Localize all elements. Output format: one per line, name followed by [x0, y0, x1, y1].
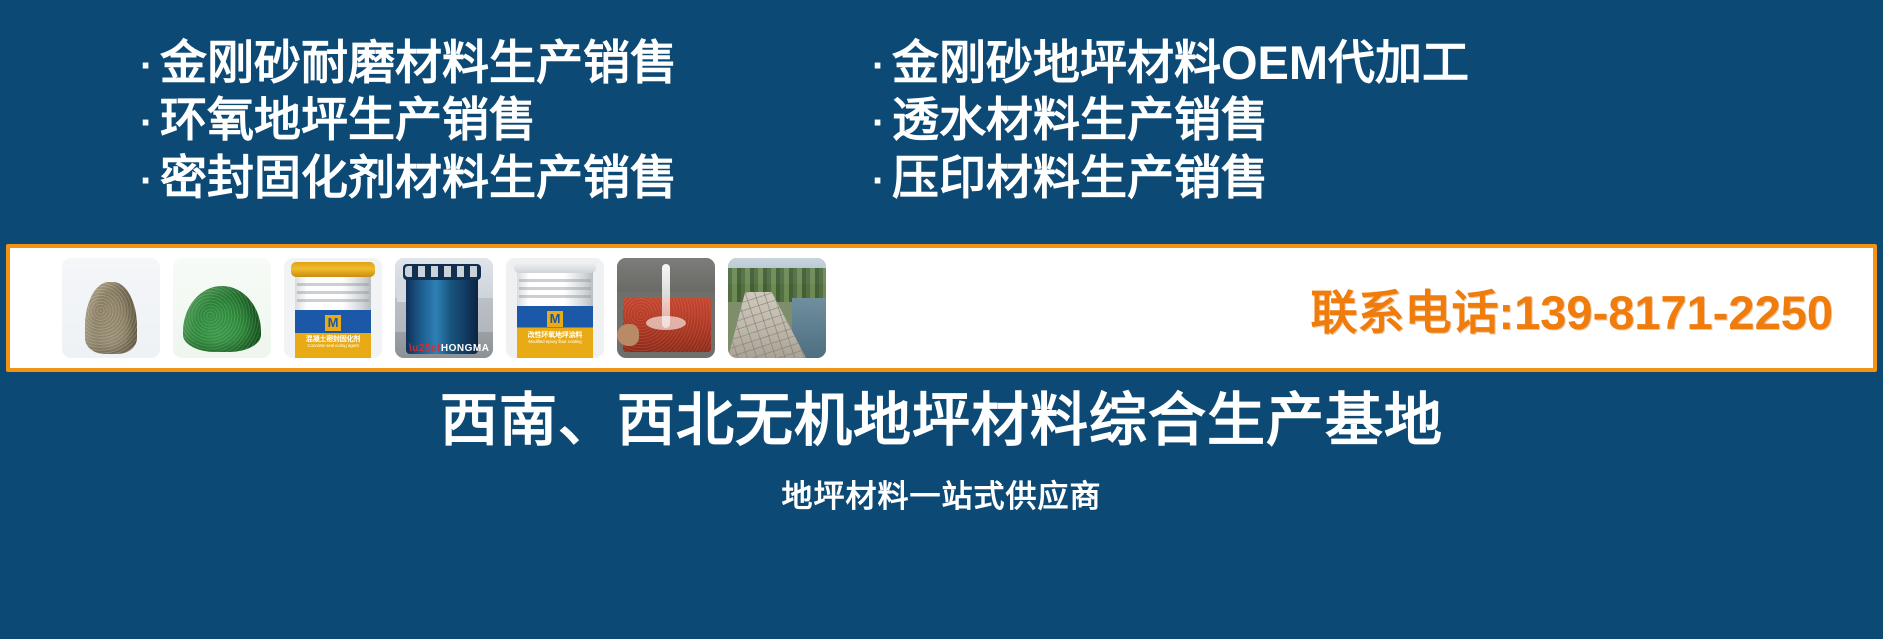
- brand-dot-icon: \u25cf: [409, 343, 441, 354]
- product-strip: M 混凝土密封固化剂 Concrete seal curing agent \u…: [6, 244, 1877, 372]
- pail-shape: M 改性环氧地坪涂料 Modified epoxy floor coating: [517, 265, 593, 358]
- drum-body: [406, 268, 478, 354]
- service-item-emery-oem: · 金刚砂地坪材料OEM代加工: [872, 34, 1883, 91]
- pail-rib: [519, 295, 591, 298]
- hand-shape: [617, 324, 639, 346]
- promotional-banner: · 金刚砂耐磨材料生产销售 · 环氧地坪生产销售 · 密封固化剂材料生产销售 ·…: [0, 0, 1883, 639]
- pail-label: M 混凝土密封固化剂 Concrete seal curing agent: [295, 310, 371, 358]
- pail-shape: M 混凝土密封固化剂 Concrete seal curing agent: [295, 265, 371, 358]
- drum-clamp-ring: [405, 266, 479, 277]
- services-section: · 金刚砂耐磨材料生产销售 · 环氧地坪生产销售 · 密封固化剂材料生产销售 ·…: [0, 0, 1883, 240]
- pail-lid: [514, 262, 596, 273]
- drum-brand-text: \u25cfHONGMA: [409, 343, 489, 354]
- water-splash: [646, 316, 686, 330]
- services-column-left: · 金刚砂耐磨材料生产销售 · 环氧地坪生产销售 · 密封固化剂材料生产销售: [0, 34, 860, 240]
- bullet-icon: ·: [872, 161, 892, 201]
- headline-text: 西南、西北无机地坪材料综合生产基地: [440, 388, 1443, 455]
- bullet-icon: ·: [140, 46, 160, 86]
- product-thumbnails: M 混凝土密封固化剂 Concrete seal curing agent \u…: [10, 248, 826, 368]
- product-thumb-sealer-pail: M 混凝土密封固化剂 Concrete seal curing agent: [284, 258, 382, 358]
- contact-phone[interactable]: 联系电话:139-8171-2250: [1311, 274, 1874, 343]
- product-thumb-stamped-walkway: [728, 258, 826, 358]
- pail-rib: [519, 279, 591, 282]
- service-item-sealer-curing-agent: · 密封固化剂材料生产销售: [140, 149, 860, 206]
- service-label: 金刚砂地坪材料OEM代加工: [892, 34, 1469, 91]
- pail-rib: [519, 287, 591, 290]
- pail-label-en: Modified epoxy floor coating: [517, 339, 593, 344]
- service-item-epoxy-floor: · 环氧地坪生产销售: [140, 91, 860, 148]
- product-thumb-green-powder: [173, 258, 271, 358]
- brand-mark-icon: M: [547, 311, 563, 327]
- product-thumb-emery-powder: [62, 258, 160, 358]
- service-label: 密封固化剂材料生产销售: [160, 149, 677, 206]
- bullet-icon: ·: [140, 103, 160, 143]
- service-item-stamped-material: · 压印材料生产销售: [872, 149, 1883, 206]
- pail-label: M 改性环氧地坪涂料 Modified epoxy floor coating: [517, 306, 593, 358]
- powder-heap-shape: [85, 282, 137, 354]
- service-label: 透水材料生产销售: [892, 91, 1268, 148]
- pail-rib: [297, 283, 369, 286]
- product-thumb-permeable-paving: [617, 258, 715, 358]
- walkway-photo-trees: [728, 268, 826, 302]
- pail-label-en: Concrete seal curing agent: [295, 343, 371, 348]
- service-label: 金刚砂耐磨材料生产销售: [160, 34, 677, 91]
- footer-section: 西南、西北无机地坪材料综合生产基地 地坪材料一站式供应商: [0, 372, 1883, 639]
- subheadline-text: 地坪材料一站式供应商: [782, 471, 1102, 516]
- pail-rib: [297, 291, 369, 294]
- service-label: 环氧地坪生产销售: [160, 91, 536, 148]
- service-label: 压印材料生产销售: [892, 149, 1268, 206]
- bullet-icon: ·: [872, 46, 892, 86]
- pail-rib: [297, 299, 369, 302]
- product-thumb-blue-drum: \u25cfHONGMA: [395, 258, 493, 358]
- service-item-permeable-material: · 透水材料生产销售: [872, 91, 1883, 148]
- bullet-icon: ·: [872, 103, 892, 143]
- brand-mark-icon: M: [325, 315, 341, 331]
- service-item-emery-wear-resistant: · 金刚砂耐磨材料生产销售: [140, 34, 860, 91]
- services-column-right: · 金刚砂地坪材料OEM代加工 · 透水材料生产销售 · 压印材料生产销售: [860, 34, 1883, 240]
- product-thumb-epoxy-pail: M 改性环氧地坪涂料 Modified epoxy floor coating: [506, 258, 604, 358]
- pail-lid: [291, 262, 375, 277]
- bullet-icon: ·: [140, 161, 160, 201]
- powder-heap-shape: [183, 286, 261, 352]
